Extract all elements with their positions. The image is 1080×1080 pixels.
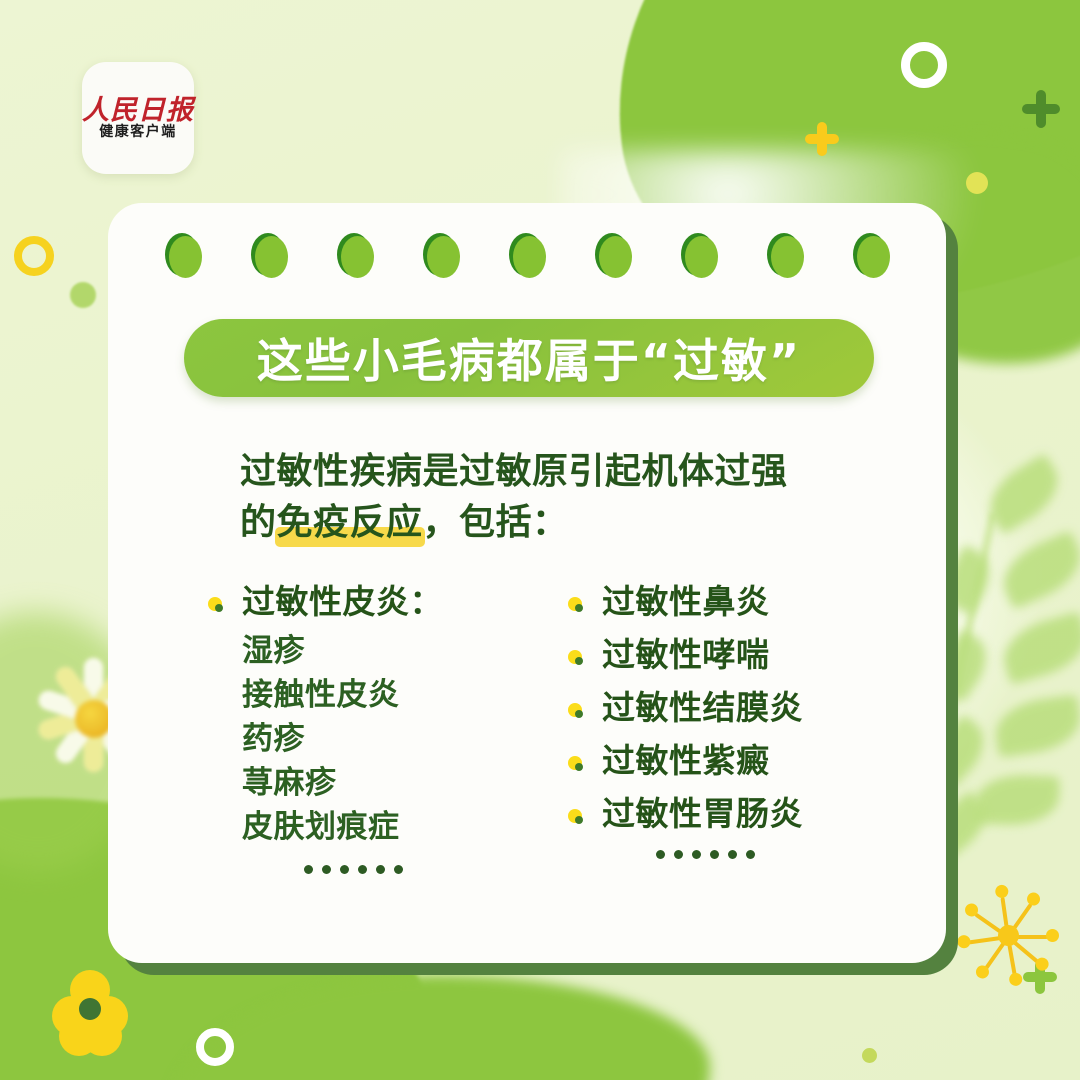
logo-title: 人民日报 xyxy=(82,97,194,124)
binding-hole xyxy=(767,233,804,278)
right-item-label: 过敏性结膜炎 xyxy=(602,691,803,724)
ring-yellow-left xyxy=(14,236,54,276)
binding-hole xyxy=(337,233,374,278)
right-item-label: 过敏性紫癜 xyxy=(602,744,770,777)
intro-suffix: ，包括： xyxy=(423,502,569,543)
list-item: 接触性皮炎 xyxy=(242,673,548,717)
disease-columns: 过敏性皮炎： 湿疹 接触性皮炎 药疹 荨麻疹 皮肤划痕症 xyxy=(208,585,946,915)
flower-bullet-icon xyxy=(568,703,590,725)
binding-hole xyxy=(595,233,632,278)
page-title: 这些小毛病都属于“过敏” xyxy=(257,325,801,391)
list-item: 湿疹 xyxy=(242,629,548,673)
binding-hole xyxy=(251,233,288,278)
intro-highlight: 免疫反应 xyxy=(277,497,423,548)
flower-bullet-icon xyxy=(208,597,230,619)
binding-hole xyxy=(509,233,546,278)
left-sub-list: 湿疹 接触性皮炎 药疹 荨麻疹 皮肤划痕症 xyxy=(242,629,548,849)
column-left: 过敏性皮炎： 湿疹 接触性皮炎 药疹 荨麻疹 皮肤划痕症 xyxy=(208,585,548,874)
flower-bullet-icon xyxy=(568,809,590,831)
right-item-label: 过敏性胃肠炎 xyxy=(602,797,803,830)
flower-bullet-icon xyxy=(568,650,590,672)
list-item: 过敏性紫癜 xyxy=(568,744,946,778)
binding-hole xyxy=(423,233,460,278)
dot-green-left xyxy=(70,282,96,308)
dandelion-burst-bottom-right xyxy=(953,880,1063,990)
flower-yellow-bottom-left xyxy=(52,970,128,1046)
ring-white-top-right xyxy=(901,42,947,88)
spiral-binding-holes xyxy=(108,233,946,293)
list-item: 荨麻疹 xyxy=(242,761,548,805)
left-heading: 过敏性皮炎： xyxy=(242,585,443,618)
flower-bullet-icon xyxy=(568,756,590,778)
list-item: 皮肤划痕症 xyxy=(242,805,548,849)
logo-subtitle: 健康客户端 xyxy=(99,126,177,140)
intro-paragraph: 过敏性疾病是过敏原引起机体过强 的免疫反应，包括： xyxy=(240,446,840,548)
plus-dark-green-top-right xyxy=(1022,90,1060,128)
plus-yellow-top-right xyxy=(805,122,839,156)
right-item-label: 过敏性鼻炎 xyxy=(602,585,770,618)
right-ellipsis xyxy=(656,850,946,859)
dot-yellow-top-right xyxy=(966,172,988,194)
list-item: 过敏性胃肠炎 xyxy=(568,797,946,831)
dot-green-bottom-right xyxy=(862,1048,877,1063)
right-item-label: 过敏性哮喘 xyxy=(602,638,770,671)
binding-hole xyxy=(681,233,718,278)
list-item: 过敏性鼻炎 xyxy=(568,585,946,619)
column-right: 过敏性鼻炎 过敏性哮喘 过敏性结膜炎 xyxy=(568,585,946,859)
ring-white-bottom-left xyxy=(196,1028,234,1066)
left-ellipsis xyxy=(304,865,548,874)
list-item: 过敏性哮喘 xyxy=(568,638,946,672)
list-item: 药疹 xyxy=(242,717,548,761)
note-card: 这些小毛病都属于“过敏” 过敏性疾病是过敏原引起机体过强 的免疫反应，包括： 过… xyxy=(108,203,946,963)
intro-prefix: 的 xyxy=(240,502,277,543)
intro-line-1: 过敏性疾病是过敏原引起机体过强 xyxy=(240,451,788,492)
list-item: 过敏性结膜炎 xyxy=(568,691,946,725)
peoples-daily-health-logo[interactable]: 人民日报 健康客户端 xyxy=(82,62,194,174)
infographic-canvas: 人民日报 健康客户端 这些小毛病都属于“过敏” 过敏性疾病是过敏原引起机体过强 … xyxy=(0,0,1080,1080)
flower-bullet-icon xyxy=(568,597,590,619)
list-item: 过敏性皮炎： xyxy=(208,585,548,619)
binding-hole xyxy=(165,233,202,278)
title-banner: 这些小毛病都属于“过敏” xyxy=(184,319,874,397)
binding-hole xyxy=(853,233,890,278)
